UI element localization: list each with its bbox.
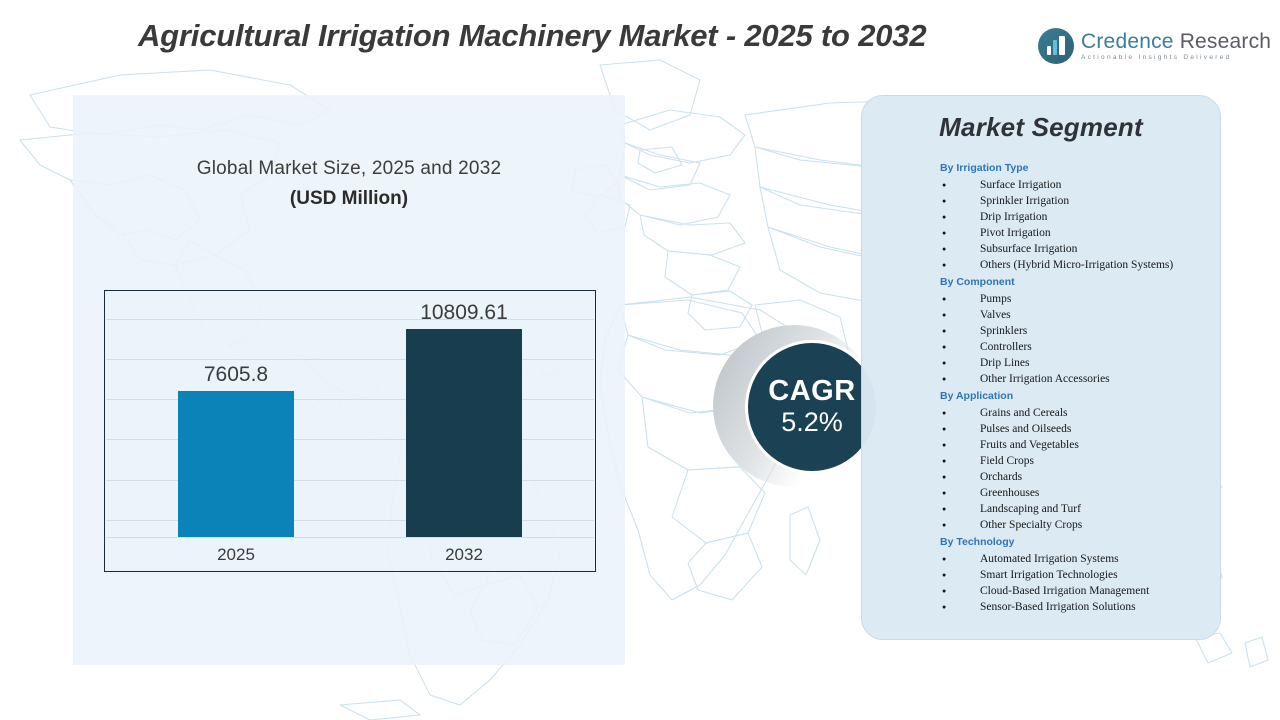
segment-list-item: Landscaping and Turf — [940, 501, 1230, 517]
segment-list-item: Pumps — [940, 291, 1230, 307]
bar-category-2032: 2032 — [406, 545, 522, 565]
cagr-value: 5.2% — [781, 407, 843, 438]
segment-list-item: Cloud-Based Irrigation Management — [940, 583, 1230, 599]
segment-list-item: Grains and Cereals — [940, 405, 1230, 421]
segment-list-item: Orchards — [940, 469, 1230, 485]
bar-category-2025: 2025 — [178, 545, 294, 565]
bar-2025 — [178, 391, 294, 537]
segment-list-item: Field Crops — [940, 453, 1230, 469]
segment-list-item: Drip Lines — [940, 355, 1230, 371]
cagr-label: CAGR — [768, 376, 855, 406]
segment-group-title: By Irrigation Type — [940, 160, 1230, 176]
segment-list-item: Pulses and Oilseeds — [940, 421, 1230, 437]
bar-chart-logo-icon — [1038, 28, 1074, 64]
market-segment-title: Market Segment — [861, 112, 1221, 143]
segment-list-item: Pivot Irrigation — [940, 225, 1230, 241]
logo-name-first: Credence — [1081, 30, 1174, 53]
logo-brand-name: Credence Research — [1081, 31, 1271, 52]
bar-chart: 7605.8 10809.61 2025 2032 — [104, 290, 596, 572]
segment-list-item: Greenhouses — [940, 485, 1230, 501]
segment-list-item: Automated Irrigation Systems — [940, 551, 1230, 567]
segment-list-item: Other Irrigation Accessories — [940, 371, 1230, 387]
page-title: Agricultural Irrigation Machinery Market… — [138, 18, 926, 54]
gridline-baseline — [106, 537, 594, 538]
segment-list-item: Valves — [940, 307, 1230, 323]
segment-group-title: By Application — [940, 388, 1230, 404]
logo-name-second: Research — [1174, 30, 1272, 53]
bar-value-2025: 7605.8 — [178, 363, 294, 387]
market-segment-list: By Irrigation TypeSurface IrrigationSpri… — [940, 159, 1230, 615]
segment-list-item: Sprinklers — [940, 323, 1230, 339]
segment-group-title: By Component — [940, 274, 1230, 290]
segment-list-item: Drip Irrigation — [940, 209, 1230, 225]
segment-list-item: Sensor-Based Irrigation Solutions — [940, 599, 1230, 615]
chart-title: Global Market Size, 2025 and 2032 — [73, 158, 625, 180]
segment-list-item: Other Specialty Crops — [940, 517, 1230, 533]
cagr-badge: CAGR 5.2% — [745, 340, 879, 474]
segment-list-item: Fruits and Vegetables — [940, 437, 1230, 453]
chart-subtitle: (USD Million) — [73, 188, 625, 210]
segment-list-item: Subsurface Irrigation — [940, 241, 1230, 257]
segment-list-item: Smart Irrigation Technologies — [940, 567, 1230, 583]
segment-list-item: Surface Irrigation — [940, 177, 1230, 193]
logo-tagline: Actionable Insights Delivered — [1081, 55, 1271, 62]
infographic-page: Agricultural Irrigation Machinery Market… — [0, 0, 1280, 720]
bar-2032 — [406, 329, 522, 537]
segment-list-item: Sprinkler Irrigation — [940, 193, 1230, 209]
bar-value-2032: 10809.61 — [406, 301, 522, 325]
segment-list-item: Others (Hybrid Micro-Irrigation Systems) — [940, 257, 1230, 273]
segment-list-item: Controllers — [940, 339, 1230, 355]
segment-group-title: By Technology — [940, 534, 1230, 550]
credence-research-logo: Credence Research Actionable Insights De… — [1038, 24, 1252, 68]
